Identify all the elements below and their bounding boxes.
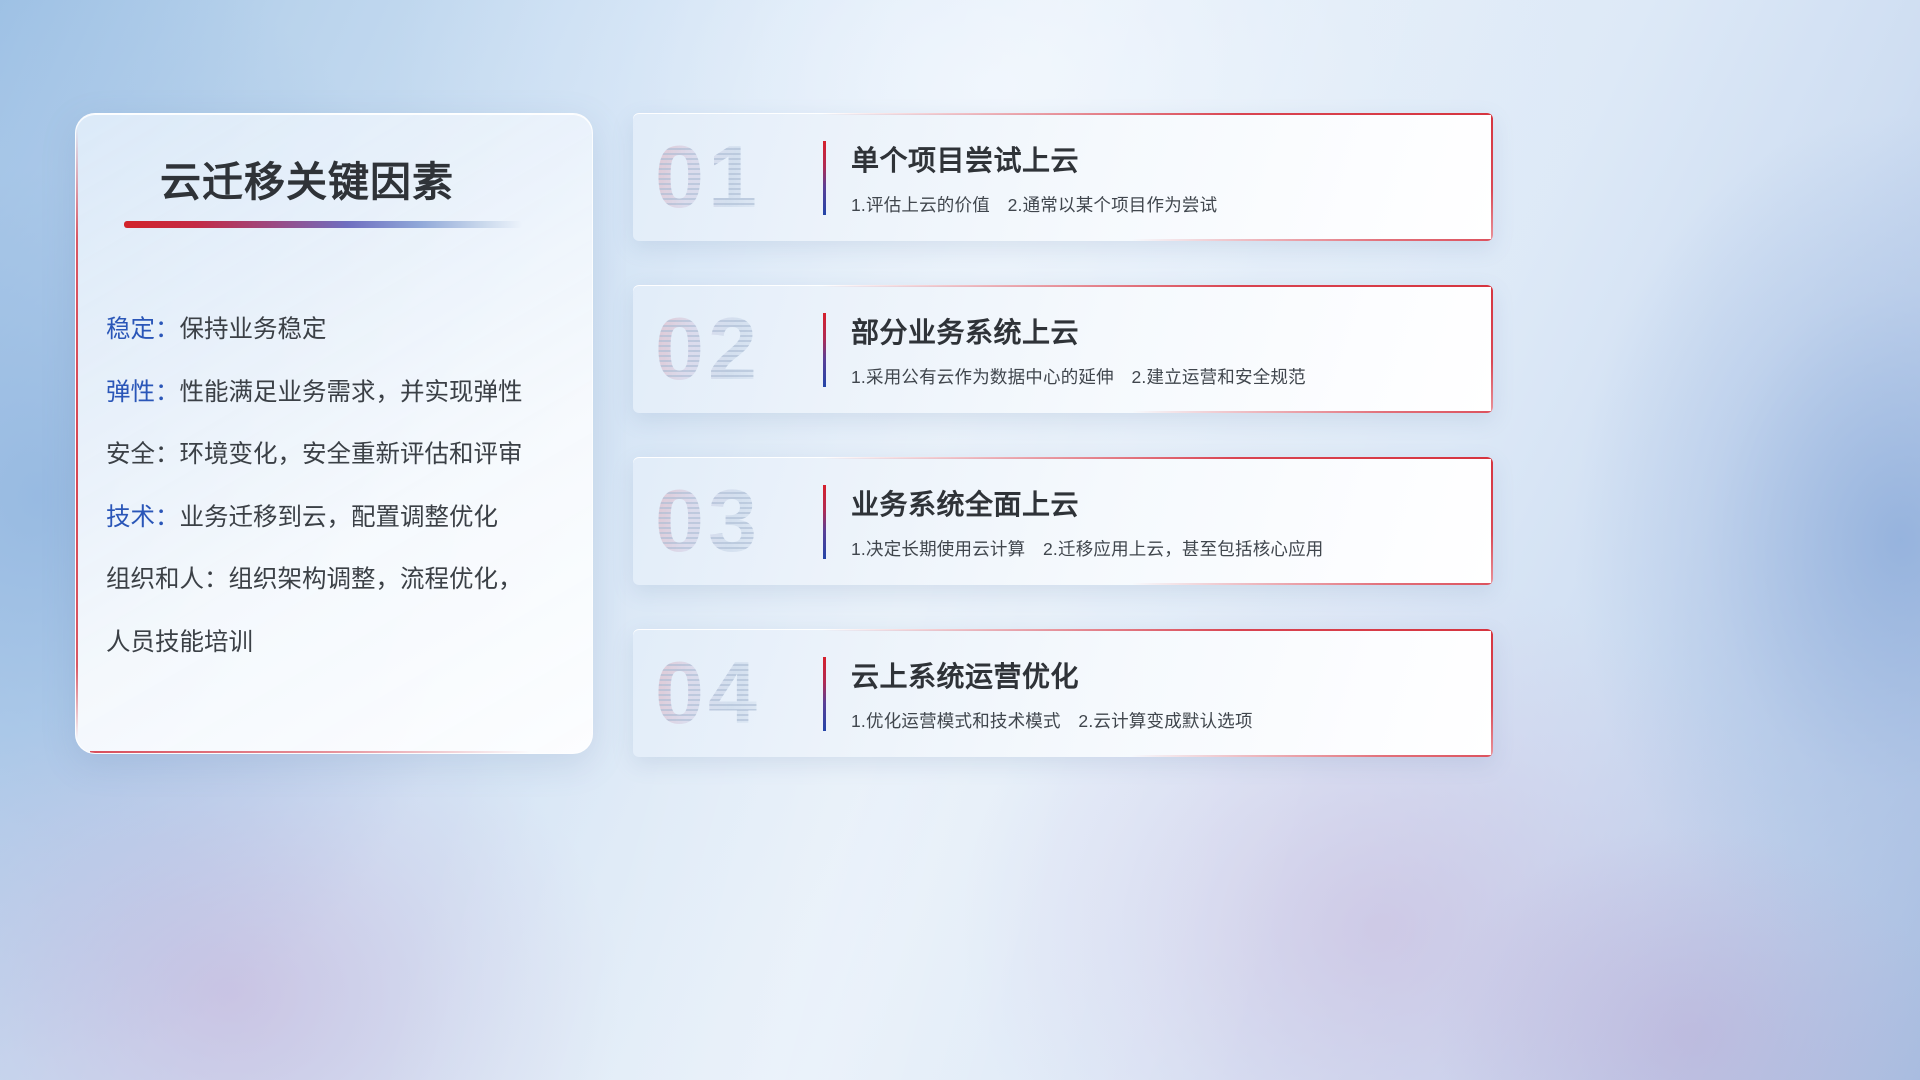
panel-bottom-accent-line [90, 751, 532, 753]
factor-text: 业务迁移到云，配置调整优化 [180, 504, 499, 531]
factor-label: 稳定： [106, 316, 180, 343]
card-right-accent-line [1491, 629, 1493, 757]
card-top-accent-line [822, 457, 1493, 459]
panel-left-accent-line [76, 128, 78, 739]
list-item-continuation: 人员技能培训 [106, 631, 576, 656]
stage-title: 云上系统运营优化 [851, 655, 1079, 695]
card-bottom-accent-line [1132, 583, 1493, 585]
stage-number-watermark: 01 [655, 133, 761, 221]
list-item: 技术：业务迁移到云，配置调整优化 [106, 506, 576, 531]
factor-text: 环境变化，安全重新评估和评审 [180, 441, 523, 468]
card-accent-bar [823, 313, 826, 387]
stage-card-01[interactable]: 01 单个项目尝试上云 1.评估上云的价值 2.通常以某个项目作为尝试 [633, 113, 1493, 241]
page-title: 云迁移关键因素 [160, 148, 454, 208]
card-accent-bar [823, 485, 826, 559]
card-top-accent-line [822, 113, 1493, 115]
stage-description: 1.优化运营模式和技术模式 2.云计算变成默认选项 [851, 708, 1253, 733]
stage-number-watermark: 04 [655, 649, 761, 737]
card-bottom-accent-line [1132, 755, 1493, 757]
stage-card-03[interactable]: 03 业务系统全面上云 1.决定长期使用云计算 2.迁移应用上云，甚至包括核心应… [633, 457, 1493, 585]
stage-card-02[interactable]: 02 部分业务系统上云 1.采用公有云作为数据中心的延伸 2.建立运营和安全规范 [633, 285, 1493, 413]
factor-text: 保持业务稳定 [180, 316, 327, 343]
stage-number-watermark: 02 [655, 305, 761, 393]
title-underline-gradient [124, 221, 522, 228]
card-right-accent-line [1491, 285, 1493, 413]
factor-text: 人员技能培训 [106, 629, 253, 656]
card-right-accent-line [1491, 457, 1493, 585]
card-top-accent-line [822, 285, 1493, 287]
stage-title: 单个项目尝试上云 [851, 139, 1079, 179]
factor-text: 性能满足业务需求，并实现弹性 [180, 379, 523, 406]
stage-card-04[interactable]: 04 云上系统运营优化 1.优化运营模式和技术模式 2.云计算变成默认选项 [633, 629, 1493, 757]
factor-label: 安全： [106, 441, 180, 468]
list-item: 稳定：保持业务稳定 [106, 318, 576, 343]
card-right-accent-line [1491, 113, 1493, 241]
factor-label: 弹性： [106, 379, 180, 406]
list-item: 组织和人：组织架构调整，流程优化， [106, 568, 576, 593]
stage-description: 1.决定长期使用云计算 2.迁移应用上云，甚至包括核心应用 [851, 536, 1324, 561]
list-item: 安全：环境变化，安全重新评估和评审 [106, 443, 576, 468]
stage-description: 1.采用公有云作为数据中心的延伸 2.建立运营和安全规范 [851, 364, 1306, 389]
list-item: 弹性：性能满足业务需求，并实现弹性 [106, 381, 576, 406]
factor-label: 技术： [106, 504, 180, 531]
stage-title: 业务系统全面上云 [851, 483, 1079, 523]
stage-description: 1.评估上云的价值 2.通常以某个项目作为尝试 [851, 192, 1217, 217]
card-accent-bar [823, 657, 826, 731]
stage-number-watermark: 03 [655, 477, 761, 565]
key-factors-list: 稳定：保持业务稳定 弹性：性能满足业务需求，并实现弹性 安全：环境变化，安全重新… [106, 318, 576, 655]
stage-title: 部分业务系统上云 [851, 311, 1079, 351]
card-bottom-accent-line [1132, 411, 1493, 413]
factor-label: 组织和人： [106, 566, 229, 593]
card-top-accent-line [822, 629, 1493, 631]
factor-text: 组织架构调整，流程优化， [229, 566, 523, 593]
card-accent-bar [823, 141, 826, 215]
slide-stage: 云迁移关键因素 稳定：保持业务稳定 弹性：性能满足业务需求，并实现弹性 安全：环… [0, 0, 1920, 1080]
card-bottom-accent-line [1132, 239, 1493, 241]
